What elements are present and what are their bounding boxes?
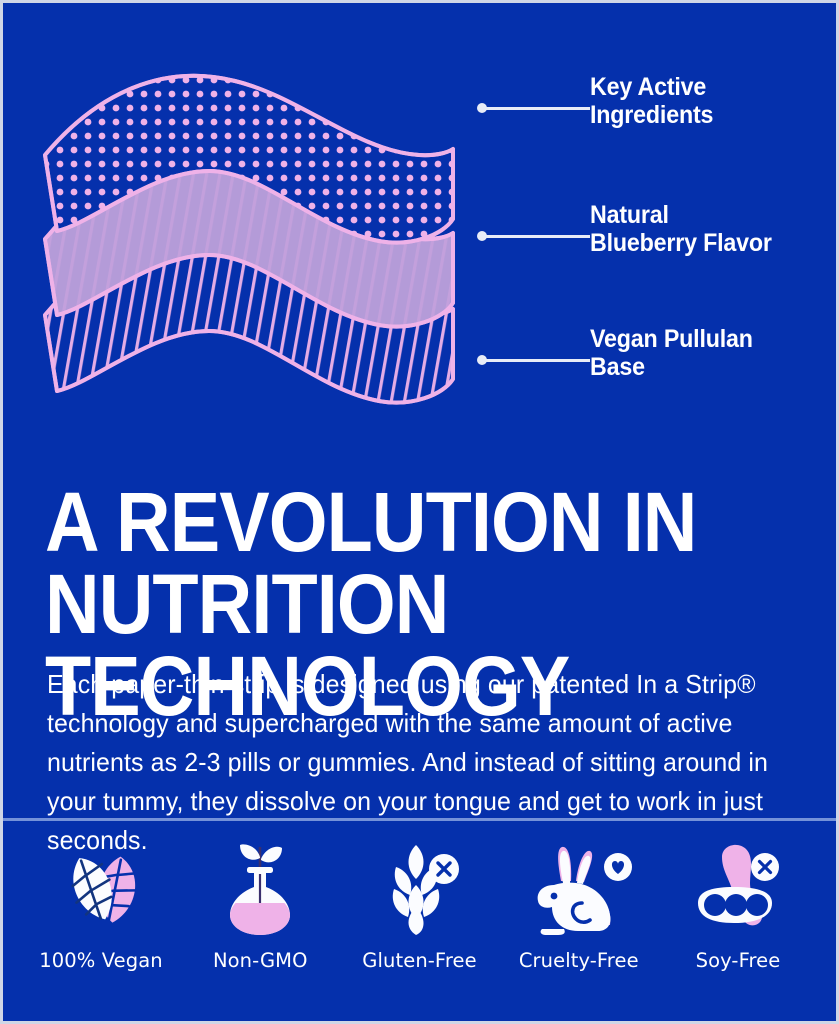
badge-label: Soy-Free [696, 949, 781, 972]
callout-label: Natural Blueberry Flavor [590, 201, 772, 257]
flask-sprout-icon [214, 841, 306, 937]
callout-leader-line [465, 347, 590, 373]
callout-line-icon [485, 107, 590, 110]
callout-key-active-ingredients: Key Active Ingredients [465, 73, 835, 129]
callout-line-icon [485, 235, 590, 238]
wheat-no-icon [372, 841, 468, 937]
hero-section: Key Active Ingredients Natural Blueberry… [3, 3, 836, 413]
badge-label: 100% Vegan [39, 949, 162, 972]
badge-label: Non-GMO [213, 949, 308, 972]
leaves-icon [42, 841, 160, 937]
callout-list: Key Active Ingredients Natural Blueberry… [465, 63, 835, 251]
callout-leader-line [465, 95, 590, 121]
section-divider [3, 818, 836, 821]
badge-cruelty-free: Cruelty-Free [503, 841, 655, 972]
callout-label: Vegan Pullulan Base [590, 325, 753, 381]
badge-soy-free: Soy-Free [662, 841, 814, 972]
badge-gluten-free: Gluten-Free [344, 841, 496, 972]
layered-strip-illustration [39, 31, 459, 411]
certification-badge-row: 100% Vegan Non-GMO [3, 841, 836, 1001]
body-paragraph: Each paper-thin strip is designed using … [47, 665, 786, 860]
product-infographic-page: Key Active Ingredients Natural Blueberry… [0, 0, 839, 1024]
callout-leader-line [465, 223, 590, 249]
badge-vegan: 100% Vegan [25, 841, 177, 972]
bunny-heart-icon [524, 841, 634, 937]
badge-non-gmo: Non-GMO [184, 841, 336, 972]
badge-label: Cruelty-Free [519, 949, 639, 972]
callout-vegan-pullulan-base: Vegan Pullulan Base [465, 325, 835, 381]
soy-pod-no-icon [684, 841, 792, 937]
callout-natural-blueberry-flavor: Natural Blueberry Flavor [465, 201, 835, 257]
badge-label: Gluten-Free [362, 949, 476, 972]
callout-line-icon [485, 359, 590, 362]
callout-label: Key Active Ingredients [590, 73, 713, 129]
